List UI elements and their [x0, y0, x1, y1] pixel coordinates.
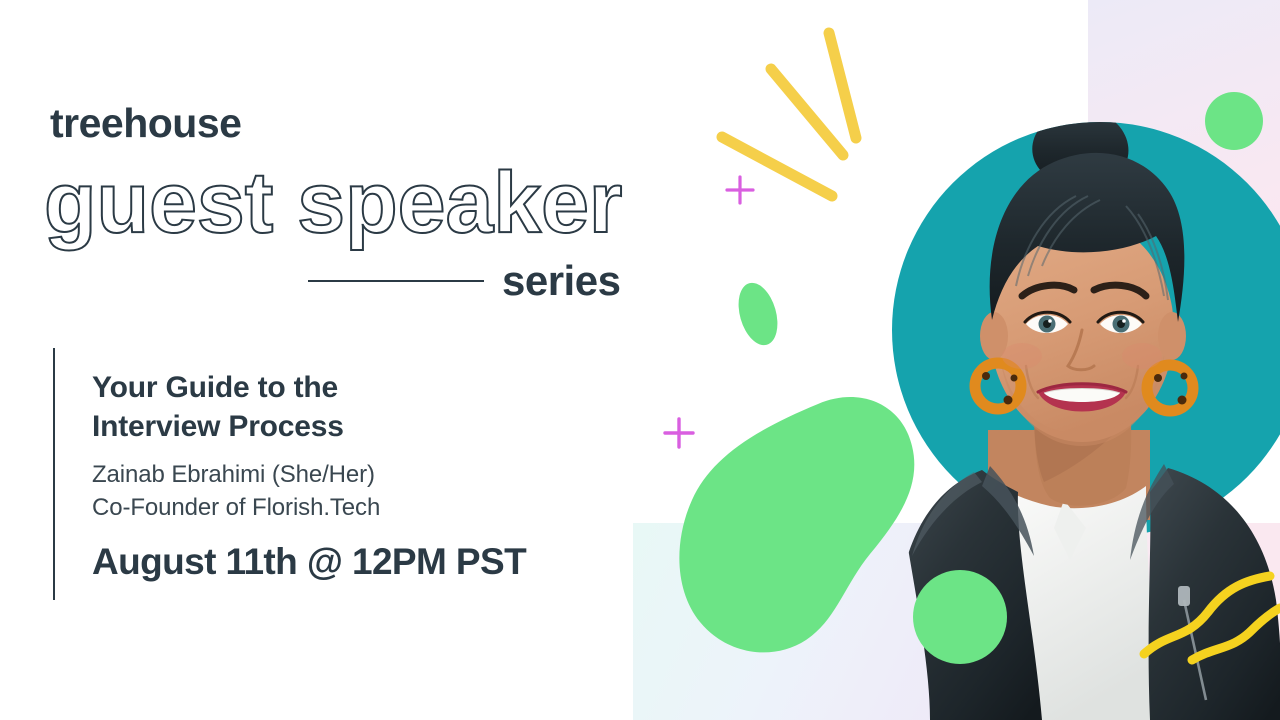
presentation-slide: treehouse guest speaker series Your Guid… — [0, 0, 1280, 720]
green-bean-blob-decoration — [679, 397, 914, 652]
slide-text-column: treehouse guest speaker series Your Guid… — [0, 0, 680, 720]
event-datetime: August 11th @ 12PM PST — [92, 542, 632, 582]
speaker-name: Zainab Ebrahimi (She/Her) — [92, 458, 632, 491]
event-details: Your Guide to the Interview Process Zain… — [92, 368, 632, 582]
guest-speaker-headline: guest speaker — [44, 160, 622, 246]
talk-title: Your Guide to the Interview Process — [92, 368, 632, 446]
yellow-sparkle-strokes — [722, 33, 856, 196]
speaker-role: Co-Founder of Florish.Tech — [92, 491, 632, 524]
green-circle-small-decoration — [913, 570, 1007, 664]
green-circle-top-right-decoration — [1205, 92, 1263, 150]
series-label: series — [502, 260, 620, 302]
talk-title-line-2: Interview Process — [92, 407, 632, 446]
talk-title-line-1: Your Guide to the — [92, 368, 632, 407]
series-divider-rule — [308, 280, 484, 282]
treehouse-wordmark: treehouse — [50, 103, 241, 144]
detail-vertical-rule — [53, 348, 55, 600]
speaker-artwork — [630, 0, 1280, 720]
magenta-plus-upper — [727, 177, 753, 203]
green-oval-small-decoration — [732, 278, 784, 349]
series-row: series — [308, 256, 628, 306]
